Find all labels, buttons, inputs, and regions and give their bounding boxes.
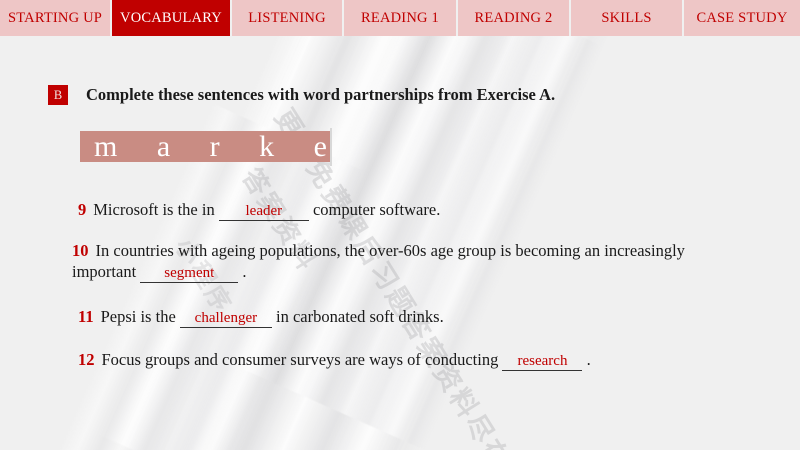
list-item: 12Focus groups and consumer surveys are … bbox=[78, 349, 591, 371]
item-text-after: . bbox=[238, 262, 246, 281]
tab-starting-up[interactable]: STARTING UP bbox=[0, 0, 112, 36]
tab-label: CASE STUDY bbox=[696, 10, 787, 27]
tab-label: LISTENING bbox=[248, 10, 326, 27]
item-text-after: computer software. bbox=[309, 200, 441, 219]
tab-case-study[interactable]: CASE STUDY bbox=[684, 0, 800, 36]
tab-label: VOCABULARY bbox=[120, 10, 222, 27]
slide-root: 更多免费课后习题答案资料尽在 答案资料 小程序 STARTING UP VOCA… bbox=[0, 0, 800, 450]
reveal-banner: m a r k e bbox=[80, 131, 330, 162]
item-number: 11 bbox=[78, 307, 94, 326]
list-item: 9Microsoft is the in leader computer sof… bbox=[78, 199, 440, 221]
reveal-caret bbox=[330, 128, 332, 166]
item-text-before: Focus groups and consumer surveys are wa… bbox=[102, 350, 503, 369]
item-text-before: Pepsi is the bbox=[101, 307, 180, 326]
answer-blank-11[interactable]: challenger bbox=[180, 311, 272, 328]
tab-label: READING 2 bbox=[475, 10, 553, 27]
tab-listening[interactable]: LISTENING bbox=[232, 0, 344, 36]
answer-blank-9[interactable]: leader bbox=[219, 204, 309, 221]
section-tabbar: STARTING UP VOCABULARY LISTENING READING… bbox=[0, 0, 800, 36]
reveal-banner-text: m a r k e bbox=[80, 132, 330, 162]
list-item: 10In countries with ageing populations, … bbox=[72, 240, 712, 283]
exercise-badge: B bbox=[48, 85, 68, 105]
exercise-heading-row: B Complete these sentences with word par… bbox=[48, 85, 555, 105]
item-text-before: Microsoft is the in bbox=[93, 200, 219, 219]
exercise-instruction: Complete these sentences with word partn… bbox=[86, 85, 555, 105]
item-text-after: in carbonated soft drinks. bbox=[272, 307, 444, 326]
tab-label: STARTING UP bbox=[8, 10, 102, 27]
answer-blank-10[interactable]: segment bbox=[140, 266, 238, 283]
tab-label: SKILLS bbox=[601, 10, 651, 27]
tab-vocabulary[interactable]: VOCABULARY bbox=[112, 0, 232, 36]
slide-content: B Complete these sentences with word par… bbox=[0, 36, 800, 450]
tab-label: READING 1 bbox=[361, 10, 439, 27]
tab-reading-1[interactable]: READING 1 bbox=[344, 0, 458, 36]
answer-blank-12[interactable]: research bbox=[502, 354, 582, 371]
item-number: 9 bbox=[78, 200, 86, 219]
item-text-after: . bbox=[582, 350, 590, 369]
item-number: 10 bbox=[72, 241, 89, 260]
tab-skills[interactable]: SKILLS bbox=[571, 0, 684, 36]
tab-reading-2[interactable]: READING 2 bbox=[458, 0, 571, 36]
item-number: 12 bbox=[78, 350, 95, 369]
list-item: 11Pepsi is the challenger in carbonated … bbox=[78, 306, 444, 328]
